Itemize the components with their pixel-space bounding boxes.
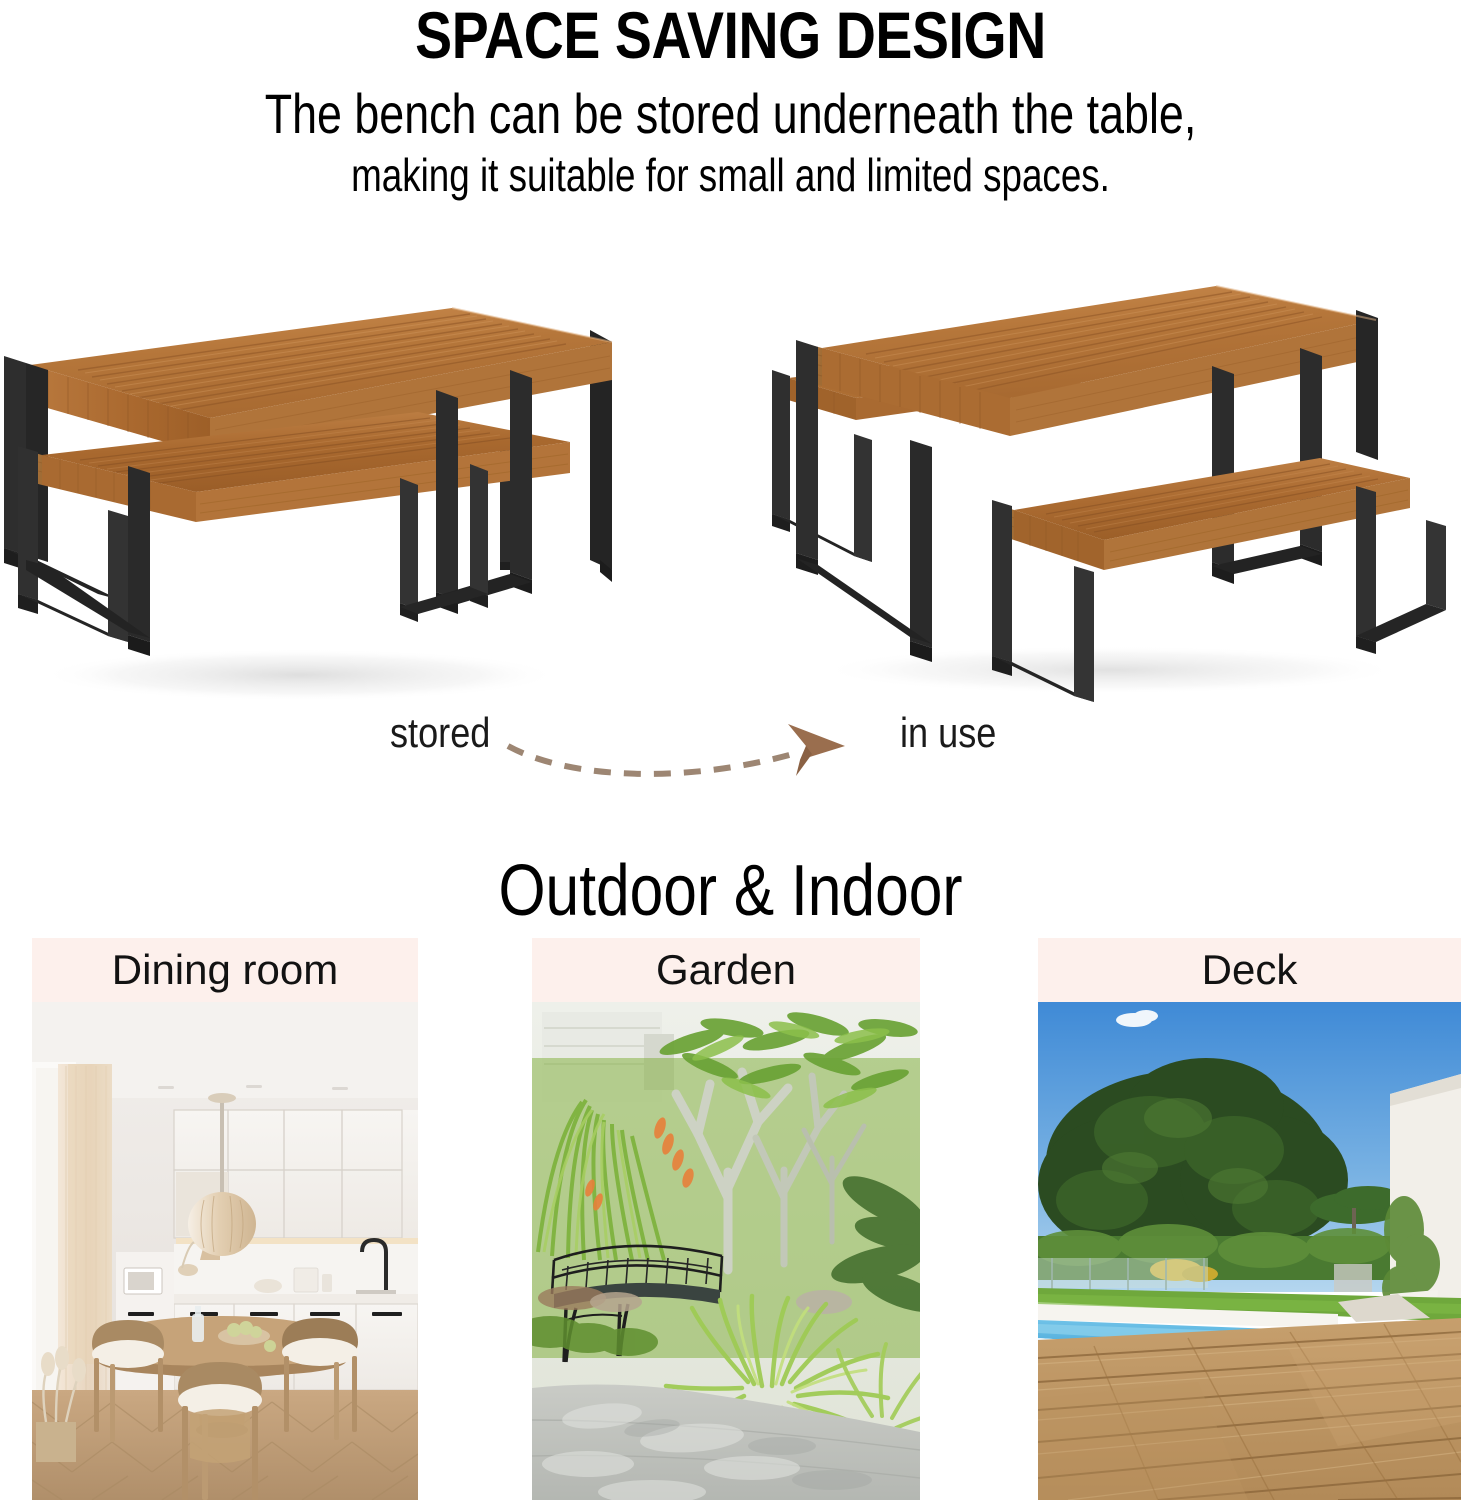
card-label-garden: Garden bbox=[532, 938, 920, 1002]
in-use-label: in use bbox=[900, 710, 996, 756]
stored-label: stored bbox=[390, 710, 490, 756]
curved-dashed-arrow-icon bbox=[500, 718, 880, 793]
deck-photo bbox=[1038, 1002, 1461, 1500]
furniture-shadow bbox=[820, 646, 1400, 694]
subtitle-line-2: making it suitable for small and limited… bbox=[146, 150, 1315, 200]
garden-photo bbox=[532, 1002, 920, 1500]
in-use-furniture-illustration bbox=[760, 270, 1460, 710]
page-title: SPACE SAVING DESIGN bbox=[117, 2, 1344, 68]
scenario-card-garden[interactable]: Garden bbox=[532, 938, 920, 1500]
transition-row: stored in use bbox=[0, 700, 1461, 800]
subtitle-line-1: The bench can be stored underneath the t… bbox=[146, 84, 1315, 144]
usage-scenario-cards: Dining room bbox=[0, 938, 1461, 1500]
header-block: SPACE SAVING DESIGN The bench can be sto… bbox=[0, 0, 1461, 200]
stored-furniture-illustration bbox=[0, 270, 660, 710]
card-label-deck: Deck bbox=[1038, 938, 1461, 1002]
furniture-illustration-stage bbox=[0, 270, 1461, 710]
dining-room-photo bbox=[32, 1002, 418, 1500]
section-heading: Outdoor & Indoor bbox=[117, 852, 1344, 930]
scenario-card-deck[interactable]: Deck bbox=[1038, 938, 1461, 1500]
scenario-card-dining-room[interactable]: Dining room bbox=[32, 938, 418, 1500]
card-label-dining-room: Dining room bbox=[32, 938, 418, 1002]
furniture-shadow bbox=[40, 649, 560, 701]
